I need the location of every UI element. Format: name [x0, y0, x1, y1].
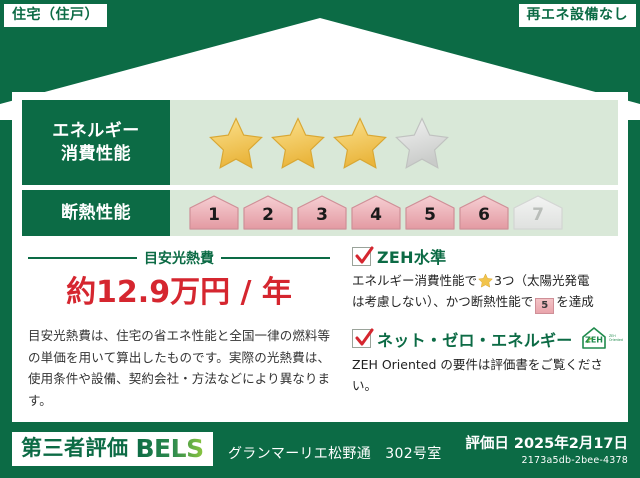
check-body-zeh-standard: エネルギー消費性能で3つ（太陽光発電は考慮しない）、かつ断熱性能で5を達成	[352, 271, 627, 314]
cost-column: 目安光熱費 約12.9万円 / 年 目安光熱費は、住宅の省エネ性能と全国一律の燃…	[22, 242, 340, 420]
check-item-zeh-standard: ZEH水準 エネルギー消費性能で3つ（太陽光発電は考慮しない）、かつ断熱性能で5…	[352, 244, 627, 314]
insulation-performance-label-box: 断熱性能	[22, 190, 170, 236]
chip-renewable-equipment: 再エネ設備なし	[519, 4, 637, 27]
insulation-level-1: 1	[188, 194, 240, 232]
energy-label-line1: エネルギー	[52, 121, 140, 141]
insulation-level-scale: 1234567	[188, 194, 564, 232]
inline-level-badge: 5	[535, 298, 554, 314]
bels-jp-text: 第三者評価	[21, 438, 129, 459]
zeh-body-part2: は考慮しない）、かつ断熱性能で	[352, 294, 533, 309]
insulation-level-7: 7	[512, 194, 564, 232]
lower-section: 目安光熱費 約12.9万円 / 年 目安光熱費は、住宅の省エネ性能と全国一律の燃…	[22, 242, 618, 420]
footer-right: 評価日 2025年2月17日 2173a5db-2bee-4378	[465, 436, 628, 466]
cost-rule-left	[28, 257, 137, 259]
check-icon	[354, 327, 374, 349]
svg-text:ZEH: ZEH	[585, 335, 603, 344]
check-icon	[354, 245, 374, 267]
row-insulation-performance: 断熱性能 1234567	[22, 190, 618, 236]
insulation-level-3: 3	[296, 194, 348, 232]
checks-column: ZEH水準 エネルギー消費性能で3つ（太陽光発電は考慮しない）、かつ断熱性能で5…	[340, 242, 629, 420]
svg-text:Oriented: Oriented	[609, 338, 623, 342]
checkbox-zeh-standard[interactable]	[352, 247, 371, 266]
check-title-net-zero-energy: ネット・ゼロ・エネルギー	[377, 327, 573, 351]
star-filled-icon	[208, 115, 264, 171]
house-shape-icon	[458, 194, 510, 232]
house-shape-icon	[188, 194, 240, 232]
title-block: 建築物省エネ法に基づく 省エネ性能ラベル	[0, 40, 640, 86]
zeh-body-part1: エネルギー消費性能で	[352, 273, 477, 288]
star-filled-icon	[332, 115, 388, 171]
page-title: 省エネ性能ラベル	[0, 58, 640, 87]
house-shape-icon	[512, 194, 564, 232]
bels-logo: 第三者評価 BELS	[12, 432, 213, 466]
house-shape-icon	[350, 194, 402, 232]
energy-label-line2: 消費性能	[61, 144, 131, 164]
house-shape-icon	[242, 194, 294, 232]
house-shape-icon	[404, 194, 456, 232]
evaluation-id: 2173a5db-2bee-4378	[465, 455, 628, 466]
check-body-net-zero-energy: ZEH Oriented の要件は評価書をご覧ください。	[352, 355, 627, 397]
insulation-level-5: 5	[404, 194, 456, 232]
zeh-body-star-text: 3つ（太陽光発電	[494, 273, 589, 288]
row-energy-performance: エネルギー 消費性能	[22, 100, 618, 185]
zeh-oriented-logo-icon: ZEH ZEH Oriented	[581, 326, 627, 352]
check-title-zeh-standard: ZEH水準	[377, 244, 446, 268]
chip-building-type: 住宅（住戸）	[4, 4, 107, 27]
energy-performance-label-box: エネルギー 消費性能	[22, 100, 170, 185]
energy-performance-label: 住宅（住戸） 再エネ設備なし 建築物省エネ法に基づく 省エネ性能ラベル エネルギ…	[0, 0, 640, 478]
evaluation-date: 評価日 2025年2月17日	[465, 436, 628, 453]
checkbox-net-zero-energy[interactable]	[352, 329, 371, 348]
house-shape-icon	[296, 194, 348, 232]
cost-heading: 目安光熱費	[28, 248, 330, 268]
zeh-body-part3: を達成	[556, 294, 594, 309]
footer: 第三者評価 BELS グランマーリエ松野通 302号室 評価日 2025年2月1…	[0, 422, 640, 478]
insulation-level-4: 4	[350, 194, 402, 232]
title-subtitle: 建築物省エネ法に基づく	[0, 40, 640, 56]
cost-note: 目安光熱費は、住宅の省エネ性能と全国一律の燃料等の単価を用いて算出したものです。…	[28, 325, 330, 411]
bels-en-text: BELS	[136, 436, 204, 461]
label-body-card: エネルギー 消費性能 断熱性能 1234567 目安光熱費 約12.9万円 / …	[12, 92, 628, 422]
inline-star-icon	[478, 273, 493, 288]
insulation-level-2: 2	[242, 194, 294, 232]
check-item-net-zero-energy: ネット・ゼロ・エネルギー ZEH ZEH Oriented ZEH Orient…	[352, 326, 627, 397]
cost-rule-right	[221, 257, 330, 259]
cost-heading-text: 目安光熱費	[144, 248, 214, 268]
building-name: グランマーリエ松野通 302号室	[228, 443, 442, 463]
star-filled-icon	[270, 115, 326, 171]
cost-amount: 約12.9万円 / 年	[28, 276, 330, 309]
star-empty-icon	[394, 115, 450, 171]
insulation-level-6: 6	[458, 194, 510, 232]
star-rating	[170, 100, 618, 185]
